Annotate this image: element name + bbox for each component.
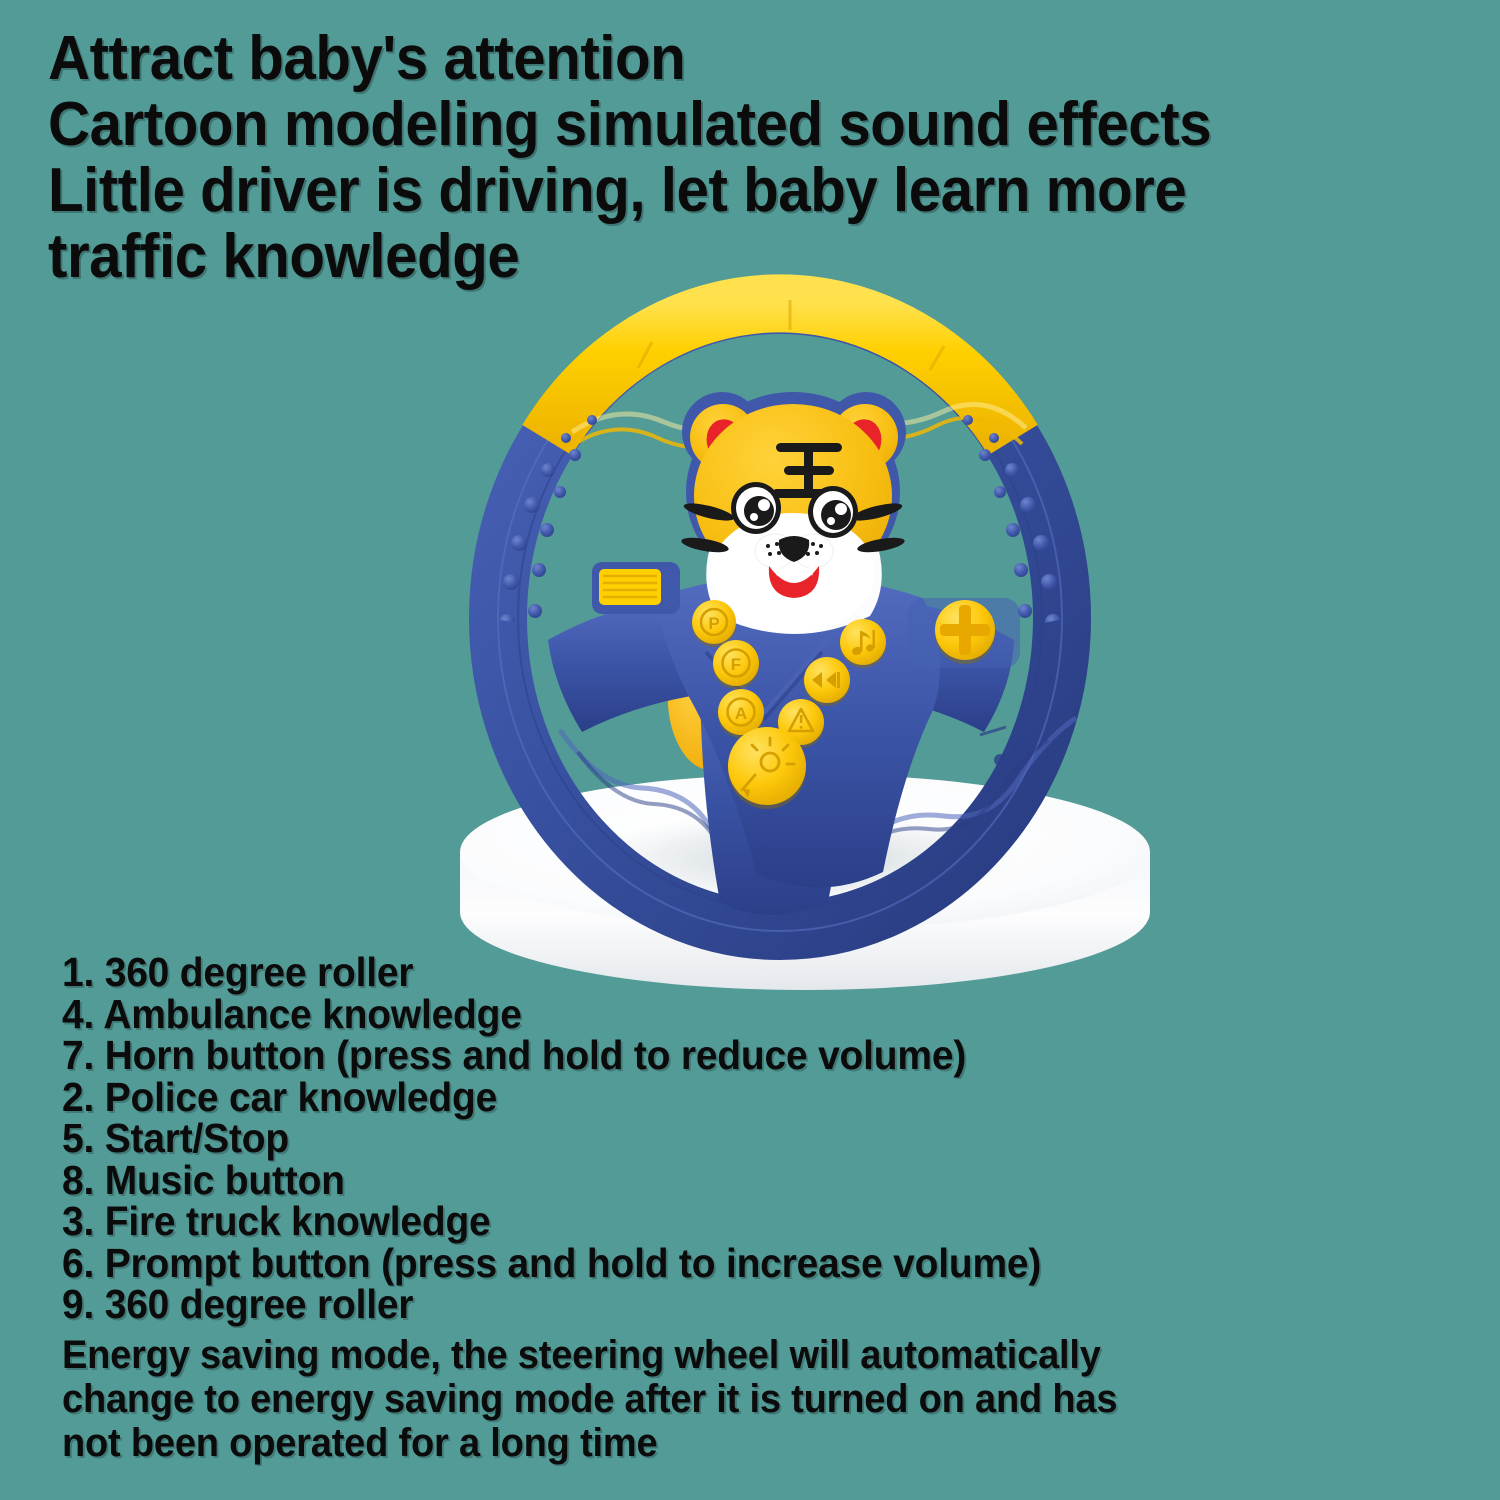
headline-line-4: traffic knowledge <box>48 224 1364 290</box>
energy-note-line: Energy saving mode, the steering wheel w… <box>62 1333 1126 1377</box>
feature-item: 8. Music button <box>62 1160 1126 1202</box>
speaker-grille <box>592 562 680 614</box>
button-horn <box>728 727 806 809</box>
product-image-canvas: P F A <box>0 0 1500 1500</box>
energy-note-line: not been operated for a long time <box>62 1421 1126 1465</box>
svg-text:P: P <box>708 614 719 633</box>
headline-line-1: Attract baby's attention <box>48 26 1364 92</box>
feature-item: 7. Horn button (press and hold to reduce… <box>62 1035 1126 1077</box>
button-skip <box>804 657 850 706</box>
feature-list: 1. 360 degree roller 4. Ambulance knowle… <box>62 952 1182 1326</box>
feature-item: 9. 360 degree roller <box>62 1284 1126 1326</box>
feature-item: 1. 360 degree roller <box>62 952 1126 994</box>
tiger-eye-right <box>808 486 858 538</box>
feature-item: 4. Ambulance knowledge <box>62 994 1126 1036</box>
feature-item: 5. Start/Stop <box>62 1118 1126 1160</box>
tiger-face <box>680 392 906 634</box>
feature-item: 3. Fire truck knowledge <box>62 1201 1126 1243</box>
button-roller <box>935 600 995 664</box>
svg-text:A: A <box>735 704 747 723</box>
tiger-eye-left <box>731 482 781 534</box>
button-fire: F <box>713 640 759 689</box>
headline-line-2: Cartoon modeling simulated sound effects <box>48 92 1364 158</box>
svg-text:F: F <box>731 655 741 674</box>
headline-block: Attract baby's attention Cartoon modelin… <box>48 26 1448 290</box>
energy-note-line: change to energy saving mode after it is… <box>62 1377 1126 1421</box>
energy-saving-note: Energy saving mode, the steering wheel w… <box>62 1333 1182 1465</box>
button-police: P <box>692 600 736 647</box>
button-music <box>840 619 886 668</box>
feature-item: 6. Prompt button (press and hold to incr… <box>62 1243 1126 1285</box>
headline-line-3: Little driver is driving, let baby learn… <box>48 158 1364 224</box>
feature-item: 2. Police car knowledge <box>62 1077 1126 1119</box>
